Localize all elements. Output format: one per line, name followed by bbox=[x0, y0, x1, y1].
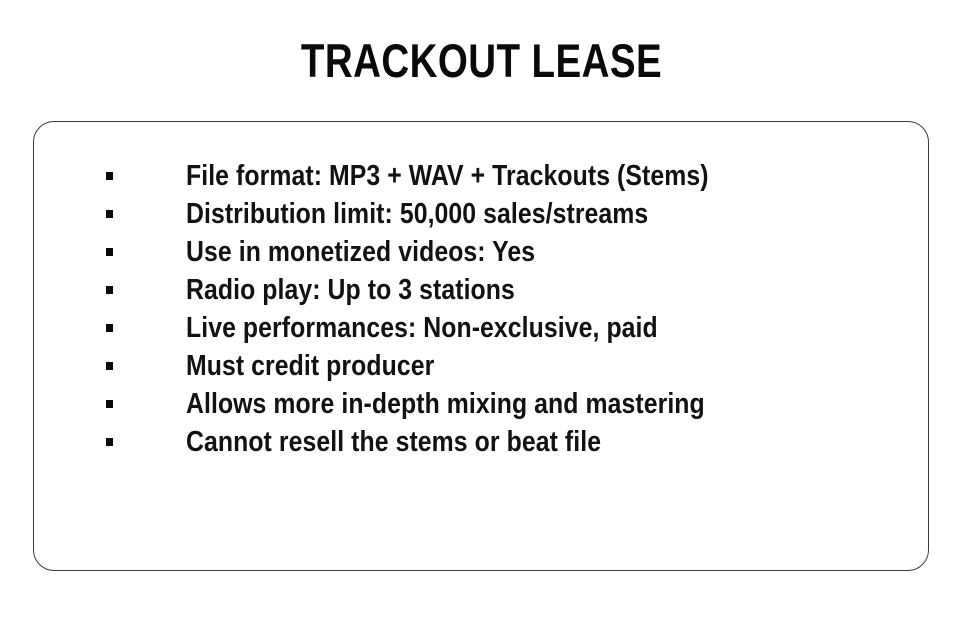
square-bullet-icon bbox=[106, 210, 113, 218]
list-item-label: Live performances: Non-exclusive, paid bbox=[186, 309, 658, 347]
list-item-label: Must credit producer bbox=[186, 347, 434, 385]
square-bullet-icon bbox=[106, 286, 113, 294]
list-item-label: Allows more in-depth mixing and masterin… bbox=[186, 385, 705, 423]
square-bullet-icon bbox=[106, 400, 113, 408]
list-item-label: Use in monetized videos: Yes bbox=[186, 233, 535, 271]
license-terms-card: File format: MP3 + WAV + Trackouts (Stem… bbox=[33, 121, 929, 571]
page-title: TRACKOUT LEASE bbox=[87, 36, 877, 86]
list-item-label: Radio play: Up to 3 stations bbox=[186, 271, 515, 309]
square-bullet-icon bbox=[106, 248, 113, 256]
square-bullet-icon bbox=[106, 362, 113, 370]
square-bullet-icon bbox=[106, 324, 113, 332]
square-bullet-icon bbox=[106, 172, 113, 180]
list-item-label: Cannot resell the stems or beat file bbox=[186, 423, 601, 461]
list-item-label: File format: MP3 + WAV + Trackouts (Stem… bbox=[186, 157, 709, 195]
square-bullet-icon bbox=[106, 438, 113, 446]
list-item-label: Distribution limit: 50,000 sales/streams bbox=[186, 195, 648, 233]
